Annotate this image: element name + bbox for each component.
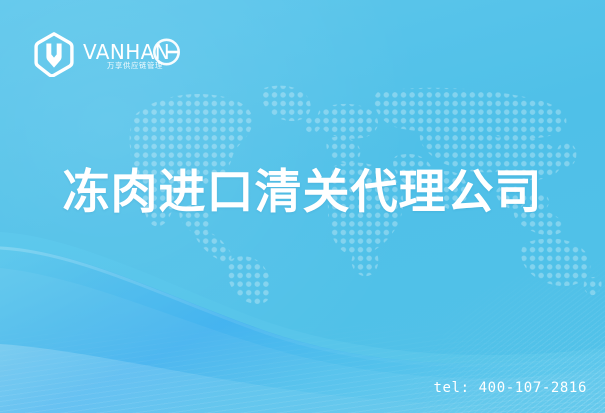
contact-phone: tel: 400-107-2816	[434, 380, 588, 396]
page-title: 冻肉进口清关代理公司	[0, 168, 605, 219]
svg-text:万享供应链管理: 万享供应链管理	[107, 61, 163, 70]
vanhang-wordmark: VANHAN 万享供应链管理	[83, 38, 181, 72]
brand-logo[interactable]: VANHAN 万享供应链管理	[34, 32, 181, 77]
vanhang-hexagon-icon	[34, 32, 74, 77]
promotional-banner: VANHAN 万享供应链管理 冻肉进口清关代理公司 tel: 400-107-2…	[0, 0, 605, 413]
